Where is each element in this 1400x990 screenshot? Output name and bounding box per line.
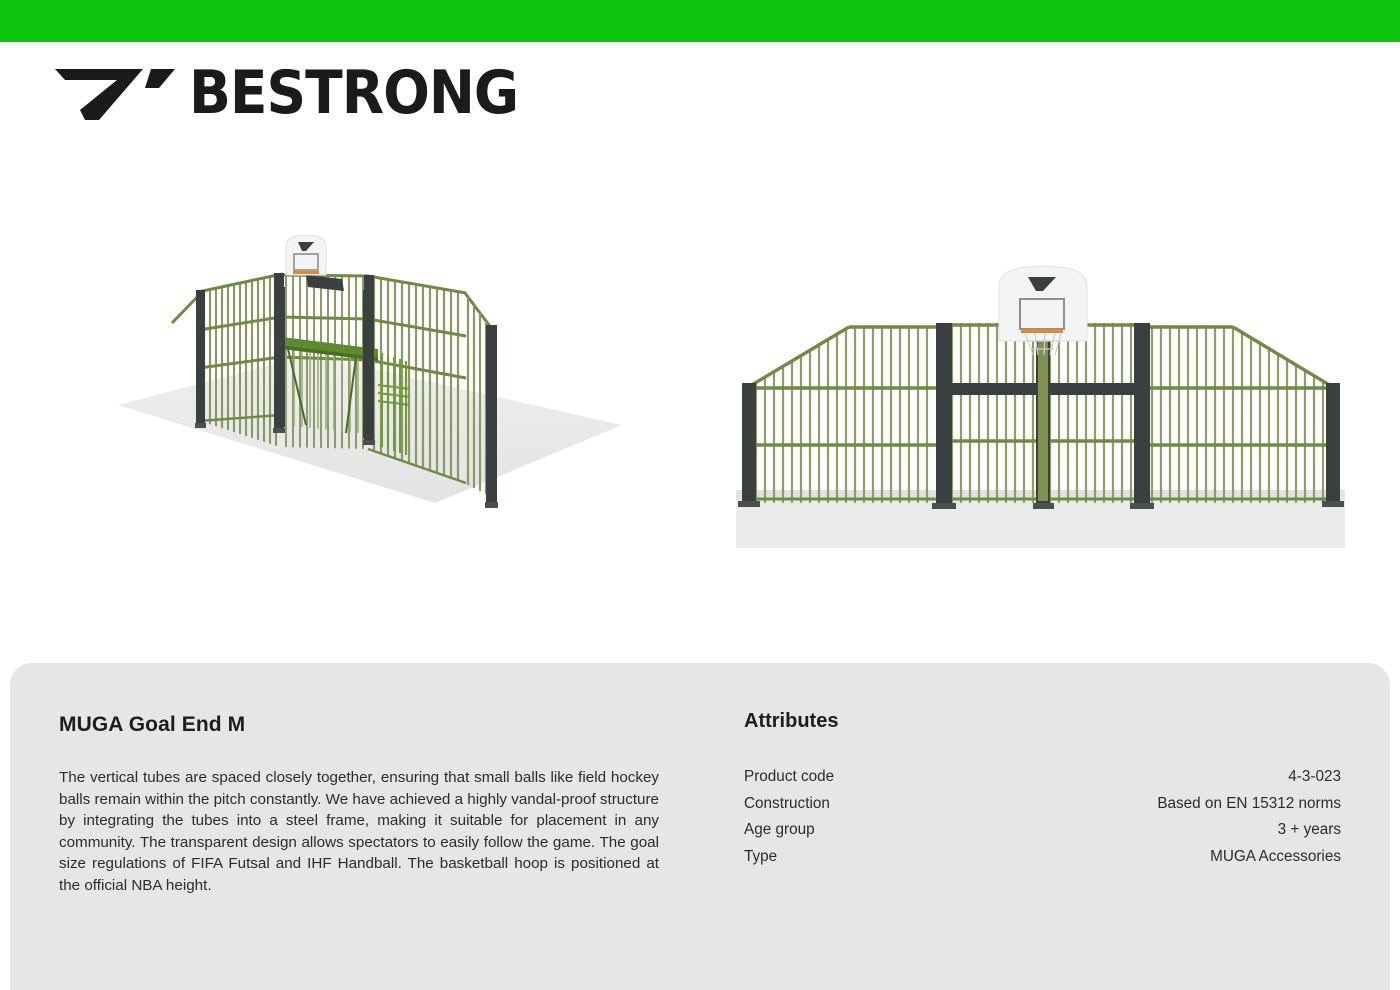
brand-logo-lockup: BESTRONG: [55, 63, 512, 123]
table-row: Product code 4-3-023: [744, 764, 1341, 791]
attribute-value: 3 + years: [941, 817, 1341, 844]
attribute-key: Type: [744, 844, 941, 871]
product-description: The vertical tubes are spaced closely to…: [59, 767, 659, 896]
product-description-column: MUGA Goal End M The vertical tubes are s…: [59, 713, 659, 896]
page-title: MUGA Goal End M: [59, 713, 659, 737]
product-info-card: MUGA Goal End M The vertical tubes are s…: [10, 663, 1390, 990]
attribute-key: Age group: [744, 817, 941, 844]
table-row: Age group 3 + years: [744, 817, 1341, 844]
attributes-table: Product code 4-3-023 Construction Based …: [744, 764, 1341, 870]
table-row: Type MUGA Accessories: [744, 844, 1341, 871]
product-render-perspective: [110, 235, 640, 545]
attribute-key: Construction: [744, 791, 941, 818]
attribute-value: Based on EN 15312 norms: [941, 791, 1341, 818]
hoop-rim: [1021, 329, 1063, 333]
attributes-heading: Attributes: [744, 710, 1344, 733]
attribute-value: 4-3-023: [941, 764, 1341, 791]
product-render-front: [728, 255, 1353, 555]
attribute-value: MUGA Accessories: [941, 844, 1341, 871]
brand-wordmark: BESTRONG: [189, 64, 518, 122]
table-row: Construction Based on EN 15312 norms: [744, 791, 1341, 818]
attributes-column: Attributes Product code 4-3-023 Construc…: [744, 710, 1344, 870]
basketball-backboard: [286, 235, 326, 275]
attribute-key: Product code: [744, 764, 941, 791]
bestrong-arrow-logo-icon: [55, 64, 175, 122]
fence-panel-left: [198, 235, 282, 545]
brand-color-bar: [0, 0, 1400, 42]
